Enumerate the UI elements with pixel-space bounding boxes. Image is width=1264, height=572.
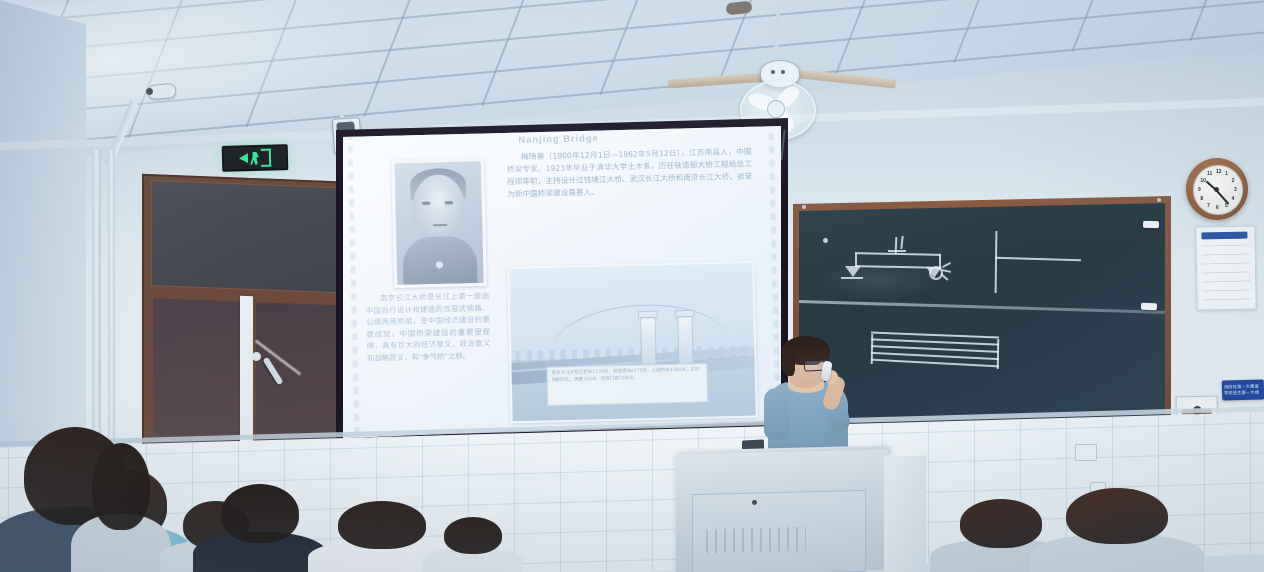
clock-numeral-9: 9	[1198, 187, 1201, 193]
wall-fan-hub	[767, 100, 785, 118]
blackboard-screw-1	[802, 205, 806, 209]
conduit-pipe-1	[92, 150, 101, 450]
notice-board-header	[1201, 232, 1247, 240]
clock-numeral-2: 2	[1232, 178, 1235, 184]
blackboard-eraser-1[interactable]	[1143, 221, 1159, 228]
portrait-eye-left	[422, 202, 430, 205]
audience-head	[221, 484, 300, 543]
podium-panel-screw	[752, 500, 757, 505]
bridge-photo-caption: 南京长江大桥正桥长1576米，铁路桥长6772米，公路桥长4588米，正桥9墩1…	[546, 363, 708, 406]
wall-tile-line-v	[606, 431, 607, 572]
clock-numeral-6: 6	[1216, 205, 1219, 211]
chalk-mark-dot	[823, 238, 828, 243]
bridge-tower-1	[640, 317, 657, 365]
chalk-load-plate	[888, 250, 906, 252]
door-transom-window	[151, 180, 357, 294]
clock-numeral-11: 11	[1207, 171, 1212, 177]
exit-arrow-icon	[239, 153, 248, 163]
clock-numeral-1: 1	[1225, 171, 1228, 177]
camera-lens-icon	[146, 88, 153, 95]
audience-student-3	[78, 440, 164, 572]
emergency-exit-sign	[222, 144, 289, 172]
slide-paragraph-biography: 梅旸春（1900年12月1日—1962年5月12日），江苏南昌人，中国桥梁专家。…	[506, 146, 752, 201]
notice-board-lines	[1202, 245, 1251, 304]
audience-head	[1066, 488, 1168, 545]
podium-side-panel	[884, 455, 926, 572]
audience-head	[92, 443, 150, 530]
clock-numeral-4: 4	[1232, 196, 1235, 202]
slide-paragraph-bridge: 南京长江大桥是长江上第一座由中国自行设计和建造的双层式铁路、公路两用桥梁，是中国…	[365, 290, 490, 364]
blackboard-screw-2	[1157, 198, 1161, 202]
audience-student-5	[202, 482, 318, 572]
clock-numeral-7: 7	[1207, 203, 1210, 209]
wall-tile-line-v	[652, 429, 653, 571]
left-wall	[0, 0, 86, 480]
portrait-face	[412, 174, 465, 239]
ceiling-grid-line-v	[481, 0, 561, 106]
clock-numeral-12: 12	[1216, 169, 1222, 175]
podium-vent-slots	[706, 527, 806, 553]
blue-wall-sign: 消防栓第一大教室 学校逃生第一大楼	[1222, 379, 1264, 400]
blackboard-eraser-2[interactable]	[1141, 303, 1157, 311]
portrait-eye-right	[445, 201, 453, 204]
presentation-slide: Nanjing Bridge 梅旸春（1900年12月1日—1962年5月12日…	[343, 126, 781, 438]
conduit-pipe-2	[108, 150, 115, 450]
audience-head	[338, 501, 425, 549]
presenter-hair-side	[782, 350, 795, 376]
portrait-jacket	[402, 236, 477, 285]
wall-tile-line-v	[928, 422, 929, 564]
blue-sign-line-2: 学校逃生第一大楼	[1224, 390, 1262, 397]
chalk-beam-left-cap	[855, 253, 857, 267]
audience-student-9	[1042, 486, 1192, 572]
wall-tile-line-v	[1250, 413, 1251, 555]
wall-tile-line-v	[560, 432, 561, 572]
presenter-left-sleeve	[764, 388, 790, 440]
clock-numeral-8: 8	[1200, 196, 1203, 202]
wall-tile-line-v	[1204, 414, 1205, 556]
chalk-pin-support-base	[841, 277, 863, 279]
chalk-pin-support	[845, 266, 861, 277]
notice-board	[1195, 225, 1256, 310]
audience-student-7	[430, 516, 516, 572]
portrait-photo	[391, 158, 487, 288]
projection-screen: Nanjing Bridge 梅旸春（1900年12月1日—1962年5月12日…	[343, 126, 781, 438]
audience-head	[444, 517, 502, 554]
portrait-mouth	[433, 224, 447, 226]
audience-head	[960, 499, 1043, 548]
running-person-icon	[250, 151, 259, 164]
classroom-photo: Nanjing Bridge 梅旸春（1900年12月1日—1962年5月12日…	[0, 0, 1264, 572]
bridge-photo: 南京长江大桥正桥长1576米，铁路桥长6772米，公路桥长4588米，正桥9墩1…	[507, 261, 758, 423]
clock-numeral-3: 3	[1234, 187, 1237, 193]
bridge-tower-2	[677, 316, 694, 364]
door-knob[interactable]	[252, 352, 261, 361]
exit-door-icon	[261, 149, 271, 167]
wall-socket-1[interactable]	[1075, 444, 1097, 461]
